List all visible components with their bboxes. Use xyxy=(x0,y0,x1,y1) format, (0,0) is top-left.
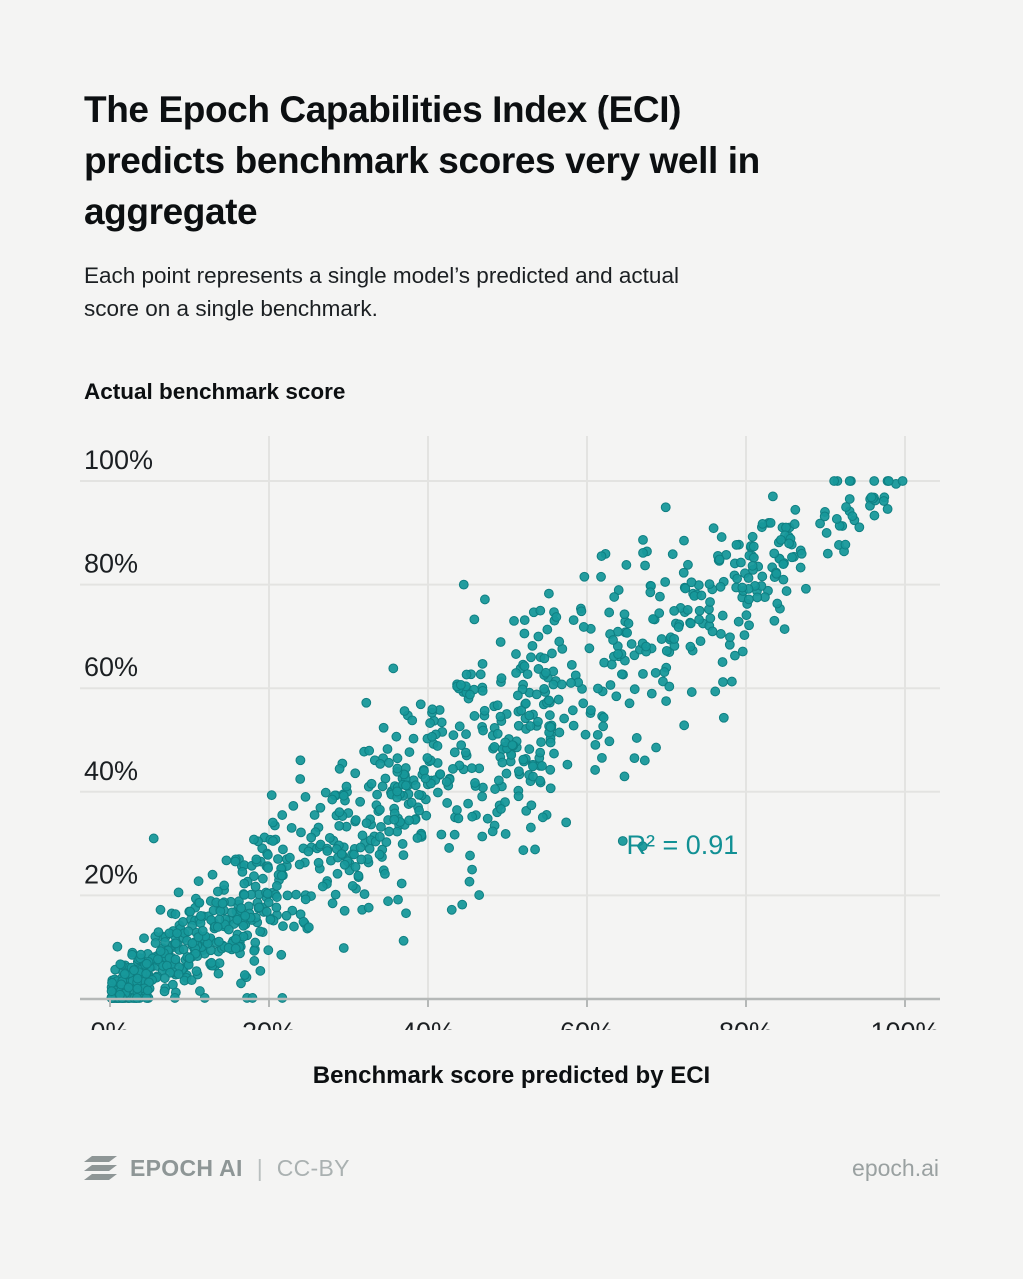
scatter-point xyxy=(279,845,288,854)
scatter-point xyxy=(510,617,519,626)
scatter-point xyxy=(240,890,249,899)
scatter-point xyxy=(256,966,265,975)
scatter-point xyxy=(277,871,286,880)
scatter-point xyxy=(708,627,717,636)
scatter-point xyxy=(375,805,384,814)
scatter-point xyxy=(142,959,151,968)
scatter-point xyxy=(434,788,443,797)
scatter-point xyxy=(718,658,727,667)
y-tick-label: 80% xyxy=(84,549,138,579)
scatter-point xyxy=(400,707,409,716)
scatter-point xyxy=(151,939,160,948)
scatter-point xyxy=(525,711,534,720)
scatter-point xyxy=(540,684,549,693)
scatter-point xyxy=(397,879,406,888)
scatter-point xyxy=(192,967,201,976)
scatter-point xyxy=(870,477,879,486)
scatter-point xyxy=(241,911,250,920)
scatter-point xyxy=(512,650,521,659)
scatter-point xyxy=(593,730,602,739)
scatter-point xyxy=(534,632,543,641)
scatter-point xyxy=(567,679,576,688)
scatter-point xyxy=(171,939,180,948)
scatter-point xyxy=(454,814,463,823)
x-tick-label: 0% xyxy=(90,1017,129,1030)
scatter-point xyxy=(546,723,555,732)
scatter-point xyxy=(130,966,139,975)
scatter-point xyxy=(436,770,445,779)
scatter-point xyxy=(497,674,506,683)
scatter-point xyxy=(437,830,446,839)
scatter-point xyxy=(399,851,408,860)
scatter-point xyxy=(716,630,725,639)
scatter-point xyxy=(455,722,464,731)
scatter-point xyxy=(642,642,651,651)
scatter-point xyxy=(668,550,677,559)
scatter-point xyxy=(393,754,402,763)
scatter-point xyxy=(384,897,393,906)
scatter-point xyxy=(356,797,365,806)
scatter-point xyxy=(415,790,424,799)
scatter-point xyxy=(587,706,596,715)
scatter-point xyxy=(483,814,492,823)
scatter-point xyxy=(744,574,753,583)
scatter-point xyxy=(617,670,626,679)
scatter-point xyxy=(620,772,629,781)
scatter-point xyxy=(545,696,554,705)
scatter-point xyxy=(665,682,674,691)
scatter-point xyxy=(258,874,267,883)
scatter-point xyxy=(779,560,788,569)
scatter-point xyxy=(328,899,337,908)
scatter-point xyxy=(610,593,619,602)
brand-separator: | xyxy=(257,1155,263,1182)
scatter-point xyxy=(160,974,169,983)
scatter-point xyxy=(389,664,398,673)
scatter-point xyxy=(316,803,325,812)
scatter-point xyxy=(289,801,298,810)
scatter-point xyxy=(251,882,260,891)
scatter-point xyxy=(733,574,742,583)
scatter-point xyxy=(579,699,588,708)
scatter-point xyxy=(356,843,365,852)
scatter-point xyxy=(269,837,278,846)
scatter-point xyxy=(479,726,488,735)
x-tick-labels: 0%20%40%60%80%100% xyxy=(90,1017,939,1030)
scatter-point xyxy=(728,677,737,686)
scatter-point xyxy=(830,477,839,486)
scatter-point xyxy=(536,606,545,615)
scatter-point xyxy=(277,950,286,959)
scatter-point xyxy=(458,900,467,909)
scatter-point xyxy=(231,944,240,953)
scatter-point xyxy=(328,795,337,804)
scatter-point xyxy=(581,730,590,739)
scatter-point xyxy=(445,844,454,853)
scatter-point xyxy=(501,830,510,839)
scatter-point xyxy=(128,950,137,959)
scatter-point xyxy=(478,686,487,695)
scatter-point xyxy=(687,578,696,587)
scatter-point xyxy=(478,659,487,668)
scatter-point xyxy=(196,987,205,996)
y-axis-label: Actual benchmark score xyxy=(84,379,345,405)
scatter-point xyxy=(684,560,693,569)
y-tick-label: 60% xyxy=(84,652,138,682)
scatter-point xyxy=(283,891,292,900)
scatter-point xyxy=(529,762,538,771)
scatter-point xyxy=(184,927,193,936)
scatter-point xyxy=(459,580,468,589)
scatter-point xyxy=(480,706,489,715)
scatter-point xyxy=(782,587,791,596)
scatter-point xyxy=(394,895,403,904)
scatter-point xyxy=(607,660,616,669)
scatter-point xyxy=(537,738,546,747)
scatter-point xyxy=(196,912,205,921)
scatter-point xyxy=(758,520,767,529)
scatter-point xyxy=(232,935,241,944)
axis-lines xyxy=(80,999,940,1007)
scatter-point xyxy=(301,793,310,802)
scatter-point xyxy=(256,927,265,936)
scatter-point xyxy=(278,811,287,820)
scatter-point xyxy=(734,617,743,626)
scatter-point xyxy=(301,895,310,904)
scatter-point xyxy=(174,888,183,897)
scatter-point xyxy=(173,929,182,938)
license-label: CC-BY xyxy=(277,1155,350,1182)
scatter-point xyxy=(449,764,458,773)
y-tick-label: 20% xyxy=(84,859,138,889)
x-tick-label: 20% xyxy=(242,1017,296,1030)
scatter-point xyxy=(179,945,188,954)
scatter-point xyxy=(468,812,477,821)
scatter-point xyxy=(560,714,569,723)
chart-page: The Epoch Capabilities Index (ECI) predi… xyxy=(0,0,1023,1279)
scatter-point xyxy=(149,834,158,843)
scatter-point xyxy=(215,937,224,946)
scatter-point xyxy=(670,606,679,615)
scatter-point xyxy=(555,637,564,646)
scatter-point xyxy=(375,850,384,859)
y-tick-labels: 20%40%60%80%100% xyxy=(84,445,153,889)
scatter-point xyxy=(749,553,758,562)
scatter-point xyxy=(696,637,705,646)
scatter-point xyxy=(174,970,183,979)
scatter-point xyxy=(186,907,195,916)
scatter-point xyxy=(598,753,607,762)
x-tick-label: 40% xyxy=(401,1017,455,1030)
scatter-point xyxy=(354,871,363,880)
scatter-point xyxy=(737,558,746,567)
scatter-point xyxy=(554,695,563,704)
x-axis-label: Benchmark score predicted by ECI xyxy=(0,1062,1023,1090)
scatter-point xyxy=(670,634,679,643)
scatter-point xyxy=(375,832,384,841)
scatter-point xyxy=(160,987,169,996)
scatter-point xyxy=(770,616,779,625)
scatter-point xyxy=(732,540,741,549)
scatter-point xyxy=(213,923,222,932)
scatter-point xyxy=(335,822,344,831)
scatter-point xyxy=(195,898,204,907)
scatter-point xyxy=(597,552,606,561)
scatter-point xyxy=(297,828,306,837)
x-tick-label: 60% xyxy=(560,1017,614,1030)
scatter-point xyxy=(367,779,376,788)
scatter-point xyxy=(612,692,621,701)
scatter-point xyxy=(777,535,786,544)
page-title: The Epoch Capabilities Index (ECI) predi… xyxy=(84,84,914,237)
scatter-point xyxy=(711,687,720,696)
scatter-point xyxy=(194,877,203,886)
scatter-point xyxy=(640,756,649,765)
scatter-point xyxy=(791,505,800,514)
scatter-point xyxy=(527,653,536,662)
scatter-plot-svg: 20%40%60%80%100% 0%20%40%60%80%100% R² =… xyxy=(0,430,1023,1030)
scatter-point xyxy=(749,542,758,551)
scatter-point xyxy=(464,799,473,808)
scatter-point xyxy=(652,743,661,752)
scatter-point xyxy=(307,833,316,842)
scatter-point xyxy=(695,615,704,624)
scatter-point xyxy=(295,860,304,869)
scatter-point xyxy=(780,625,789,634)
scatter-point xyxy=(686,619,695,628)
scatter-point xyxy=(773,599,782,608)
scatter-point xyxy=(273,893,282,902)
scatter-point xyxy=(591,740,600,749)
scatter-point xyxy=(466,690,475,699)
scatter-point xyxy=(490,743,499,752)
scatter-point xyxy=(745,621,754,630)
scatter-point xyxy=(555,728,564,737)
scatter-point xyxy=(788,553,797,562)
scatter-point xyxy=(393,787,402,796)
scatter-point xyxy=(296,775,305,784)
scatter-point xyxy=(428,705,437,714)
scatter-point xyxy=(731,651,740,660)
scatter-point xyxy=(220,881,229,890)
scatter-point xyxy=(706,598,715,607)
scatter-point xyxy=(296,756,305,765)
scatter-point xyxy=(599,713,608,722)
scatter-point xyxy=(870,511,879,520)
r-squared-annotation: R² = 0.91 xyxy=(626,830,738,860)
scatter-point xyxy=(227,908,236,917)
scatter-point xyxy=(630,754,639,763)
epoch-slanted-bars-logo-icon xyxy=(84,1155,118,1181)
scatter-point xyxy=(545,711,554,720)
scatter-point xyxy=(594,684,603,693)
scatter-point xyxy=(552,613,561,622)
scatter-point xyxy=(630,685,639,694)
scatter-point xyxy=(179,917,188,926)
scatter-points xyxy=(107,477,907,1003)
scatter-point xyxy=(523,670,532,679)
y-tick-label: 100% xyxy=(84,445,153,475)
scatter-point xyxy=(335,808,344,817)
scatter-point xyxy=(680,721,689,730)
scatter-point xyxy=(546,784,555,793)
scatter-point xyxy=(240,971,249,980)
scatter-point xyxy=(526,722,535,731)
scatter-point xyxy=(304,923,313,932)
scatter-point xyxy=(433,742,442,751)
scatter-point xyxy=(364,903,373,912)
scatter-point xyxy=(620,610,629,619)
scatter-point xyxy=(113,942,122,951)
scatter-point xyxy=(304,847,313,856)
scatter-point xyxy=(705,580,714,589)
scatter-point xyxy=(437,718,446,727)
scatter-point xyxy=(207,958,216,967)
scatter-point xyxy=(393,764,402,773)
scatter-point xyxy=(546,738,555,747)
scatter-point xyxy=(465,877,474,886)
scatter-point xyxy=(562,818,571,827)
scatter-point xyxy=(478,832,487,841)
scatter-point xyxy=(716,582,725,591)
scatter-point xyxy=(272,903,281,912)
scatter-point xyxy=(250,835,259,844)
scatter-point xyxy=(502,769,511,778)
scatter-point xyxy=(222,856,231,865)
scatter-point xyxy=(568,706,577,715)
scatter-point xyxy=(340,906,349,915)
scatter-point xyxy=(133,984,142,993)
scatter-point xyxy=(632,734,641,743)
scatter-point xyxy=(208,870,217,879)
scatter-point xyxy=(250,872,259,881)
scatter-point xyxy=(657,635,666,644)
scatter-point xyxy=(453,806,462,815)
scatter-point xyxy=(471,779,480,788)
scatter-point xyxy=(512,669,521,678)
scatter-point xyxy=(841,540,850,549)
scatter-point xyxy=(416,700,425,709)
scatter-point xyxy=(120,970,129,979)
scatter-point xyxy=(549,680,558,689)
scatter-point xyxy=(609,636,618,645)
scatter-point xyxy=(390,815,399,824)
scatter-point xyxy=(405,748,414,757)
scatter-point xyxy=(350,850,359,859)
scatter-point xyxy=(543,625,552,634)
scatter-point xyxy=(622,561,631,570)
brand-block: EPOCH AI | CC-BY xyxy=(84,1155,350,1182)
scatter-point xyxy=(823,549,832,558)
scatter-point xyxy=(409,734,418,743)
scatter-point xyxy=(802,584,811,593)
scatter-point xyxy=(392,732,401,741)
scatter-point xyxy=(569,616,578,625)
scatter-point xyxy=(797,549,806,558)
scatter-point xyxy=(285,853,294,862)
scatter-point xyxy=(785,539,794,548)
scatter-point xyxy=(362,819,371,828)
scatter-point xyxy=(605,608,614,617)
scatter-point xyxy=(697,591,706,600)
brand-name: EPOCH AI xyxy=(130,1155,243,1182)
scatter-point xyxy=(340,860,349,869)
scatter-point xyxy=(268,818,277,827)
scatter-point xyxy=(108,978,117,987)
scatter-point xyxy=(656,592,665,601)
scatter-point xyxy=(214,969,223,978)
scatter-point xyxy=(848,512,857,521)
scatter-point xyxy=(496,712,505,721)
scatter-point xyxy=(362,698,371,707)
scatter-point xyxy=(185,954,194,963)
scatter-point xyxy=(753,593,762,602)
scatter-point xyxy=(569,721,578,730)
scatter-point xyxy=(107,987,116,996)
scatter-point xyxy=(381,870,390,879)
scatter-point xyxy=(683,605,692,614)
scatter-point xyxy=(399,936,408,945)
scatter-point xyxy=(679,568,688,577)
scatter-point xyxy=(740,631,749,640)
scatter-point xyxy=(470,615,479,624)
scatter-point xyxy=(623,628,632,637)
scatter-point xyxy=(124,983,133,992)
scatter-point xyxy=(655,609,664,618)
scatter-point xyxy=(449,731,458,740)
scatter-point xyxy=(224,925,233,934)
scatter-point xyxy=(719,713,728,722)
scatter-point xyxy=(796,563,805,572)
scatter-point xyxy=(379,723,388,732)
scatter-point xyxy=(508,741,517,750)
scatter-point xyxy=(251,938,260,947)
scatter-point xyxy=(282,911,291,920)
scatter-point xyxy=(426,719,435,728)
scatter-point xyxy=(497,805,506,814)
scatter-point xyxy=(171,910,180,919)
scatter-point xyxy=(526,823,535,832)
scatter-point xyxy=(567,661,576,670)
scatter-point xyxy=(383,745,392,754)
scatter-point xyxy=(339,791,348,800)
scatter-point xyxy=(577,607,586,616)
scatter-point xyxy=(287,823,296,832)
scatter-point xyxy=(639,669,648,678)
scatter-point xyxy=(557,680,566,689)
scatter-point xyxy=(292,890,301,899)
scatter-point xyxy=(748,532,757,541)
scatter-point xyxy=(726,633,735,642)
scatter-point xyxy=(519,755,528,764)
scatter-point xyxy=(231,857,240,866)
scatter-point xyxy=(385,827,394,836)
scatter-point xyxy=(450,830,459,839)
scatter-point xyxy=(525,745,534,754)
page-subtitle: Each point represents a single model’s p… xyxy=(84,259,954,325)
scatter-point xyxy=(378,782,387,791)
scatter-point xyxy=(883,505,892,514)
scatter-point xyxy=(365,746,374,755)
scatter-point xyxy=(845,495,854,504)
scatter-point xyxy=(606,681,615,690)
scatter-point xyxy=(674,623,683,632)
scatter-point xyxy=(591,766,600,775)
scatter-point xyxy=(538,762,547,771)
scatter-point xyxy=(491,785,500,794)
scatter-point xyxy=(627,640,636,649)
scatter-point xyxy=(580,572,589,581)
